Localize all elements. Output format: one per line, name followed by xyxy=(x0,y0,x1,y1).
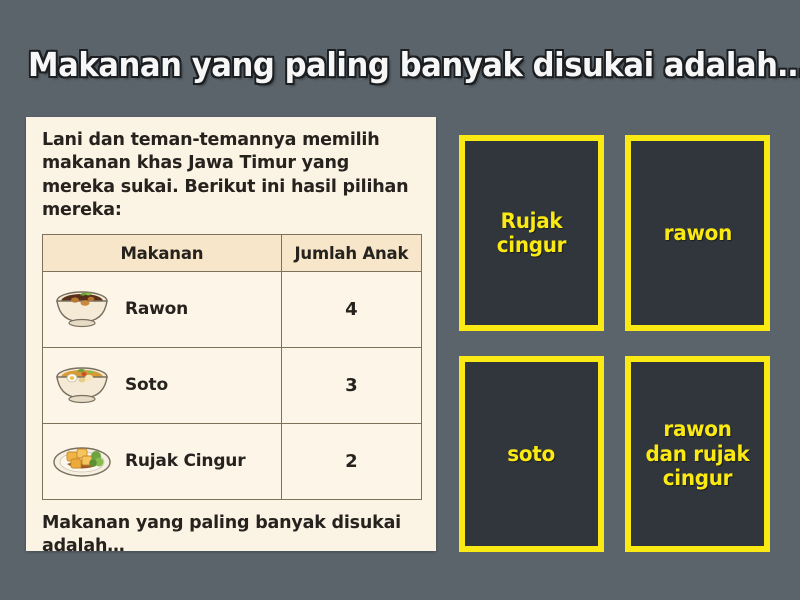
question-media-card: Lani dan teman-temannya memilih makanan … xyxy=(26,117,436,551)
table-header-row: Makanan Jumlah Anak xyxy=(43,235,422,272)
food-name: Rawon xyxy=(125,300,188,320)
food-cell: Rawon xyxy=(43,272,282,348)
answer-option-rawon[interactable]: rawon xyxy=(625,135,770,331)
food-count: 3 xyxy=(281,348,421,424)
food-count: 4 xyxy=(281,272,421,348)
answer-option-soto[interactable]: soto xyxy=(459,356,604,552)
food-count: 2 xyxy=(281,424,421,500)
rawon-bowl-icon xyxy=(51,282,113,337)
answer-option-label: soto xyxy=(508,442,556,466)
answer-option-rujak-cingur[interactable]: Rujak cingur xyxy=(459,135,604,331)
column-header-food: Makanan xyxy=(43,235,282,272)
question-intro-text: Lani dan teman-temannya memilih makanan … xyxy=(42,129,422,222)
food-preference-table: Makanan Jumlah Anak xyxy=(42,234,422,500)
answer-option-label: Rujak cingur xyxy=(474,209,589,258)
food-name: Rujak Cingur xyxy=(125,452,245,472)
soto-bowl-icon xyxy=(51,358,113,413)
food-cell: Soto xyxy=(43,348,282,424)
food-cell: Rujak Cingur xyxy=(43,424,282,500)
page-title: Makanan yang paling banyak disukai adala… xyxy=(28,48,772,81)
answer-option-label: rawon xyxy=(663,221,731,245)
answer-options-grid: Rujak cingur rawon soto rawon dan rujak … xyxy=(459,135,770,552)
table-row: Rawon 4 xyxy=(43,272,422,348)
answer-option-label: rawon dan rujak cingur xyxy=(640,417,755,490)
question-caption-text: Makanan yang paling banyak disukai adala… xyxy=(42,512,422,558)
food-name: Soto xyxy=(125,376,168,396)
rujak-cingur-plate-icon xyxy=(51,434,113,489)
table-row: Soto 3 xyxy=(43,348,422,424)
answer-option-rawon-dan-rujak-cingur[interactable]: rawon dan rujak cingur xyxy=(625,356,770,552)
table-row: Rujak Cingur 2 xyxy=(43,424,422,500)
column-header-count: Jumlah Anak xyxy=(281,235,421,272)
